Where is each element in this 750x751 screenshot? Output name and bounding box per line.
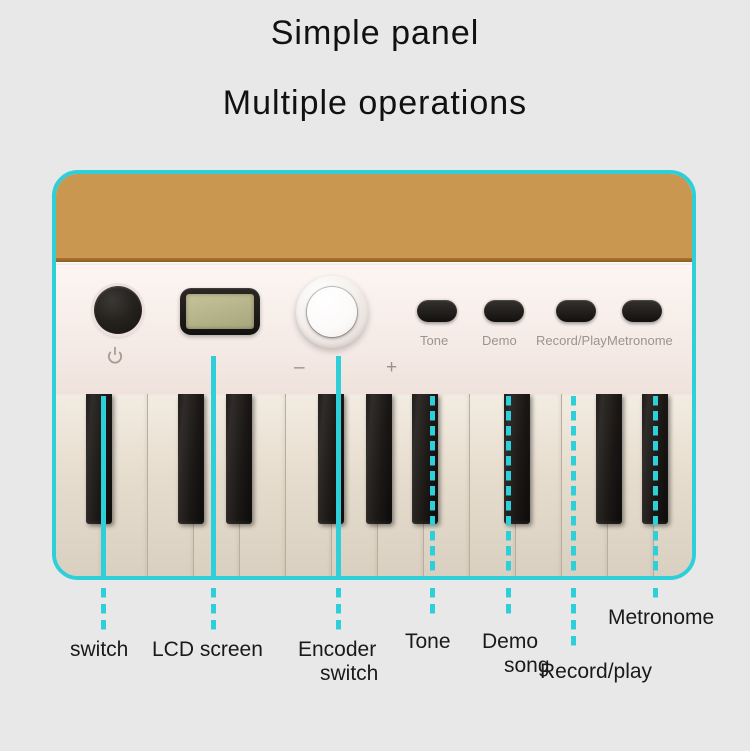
minus-label: – bbox=[294, 358, 305, 377]
caption-encoder-switch: Encoderswitch bbox=[298, 638, 378, 685]
leader-line-out-switch bbox=[101, 588, 106, 630]
button-label-tone: Tone bbox=[420, 334, 448, 347]
leader-line-out-metronome bbox=[653, 588, 658, 602]
caption-line: switch bbox=[298, 662, 378, 686]
caption-line: Record/play bbox=[540, 660, 652, 684]
button-label-demo: Demo bbox=[482, 334, 517, 347]
power-icon bbox=[105, 346, 125, 366]
button-record-play[interactable] bbox=[556, 300, 596, 322]
button-demo[interactable] bbox=[484, 300, 524, 322]
button-label-metronome: Metronome bbox=[607, 334, 673, 347]
headings-block: Simple panel Multiple operations bbox=[0, 0, 750, 120]
caption-line: Encoder bbox=[298, 638, 378, 662]
lcd-screen bbox=[180, 288, 260, 335]
black-key[interactable] bbox=[596, 394, 622, 524]
leader-line-out-encoder-switch bbox=[336, 588, 341, 630]
caption-tone: Tone bbox=[405, 630, 451, 654]
caption-line: LCD screen bbox=[152, 638, 263, 662]
wood-lid bbox=[56, 174, 692, 262]
power-button[interactable] bbox=[94, 286, 142, 334]
leader-line-out-demo-song bbox=[506, 588, 511, 620]
leader-line-metronome bbox=[653, 396, 658, 578]
caption-lcd-screen: LCD screen bbox=[152, 638, 263, 662]
button-metronome[interactable] bbox=[622, 300, 662, 322]
leader-line-lcd-screen bbox=[211, 356, 216, 578]
keybed[interactable] bbox=[56, 394, 692, 580]
black-key[interactable] bbox=[178, 394, 204, 524]
leader-line-switch bbox=[101, 396, 106, 578]
button-label-record-play: Record/Play bbox=[536, 334, 607, 347]
caption-metronome: Metronome bbox=[608, 606, 714, 630]
black-key[interactable] bbox=[366, 394, 392, 524]
caption-line: Metronome bbox=[608, 606, 714, 630]
leader-line-demo-song bbox=[506, 396, 511, 578]
leader-line-out-lcd-screen bbox=[211, 588, 216, 630]
caption-line: Tone bbox=[405, 630, 451, 654]
page-subtitle: Multiple operations bbox=[0, 86, 750, 120]
leader-line-encoder-switch bbox=[336, 356, 341, 578]
caption-switch: switch bbox=[70, 638, 128, 662]
leader-line-record-play bbox=[571, 396, 576, 578]
leader-line-out-tone bbox=[430, 588, 435, 620]
encoder-knob-face bbox=[307, 287, 357, 337]
lcd-glass bbox=[186, 294, 254, 329]
caption-record-play: Record/play bbox=[540, 660, 652, 684]
device-frame: – + ToneDemoRecord/PlayMetronome bbox=[52, 170, 696, 580]
control-panel: – + ToneDemoRecord/PlayMetronome bbox=[56, 262, 692, 394]
black-key[interactable] bbox=[86, 394, 112, 524]
leader-line-tone bbox=[430, 396, 435, 578]
encoder-knob[interactable] bbox=[296, 276, 368, 348]
plus-label: + bbox=[386, 358, 397, 377]
caption-line: Demo bbox=[482, 630, 550, 654]
button-tone[interactable] bbox=[417, 300, 457, 322]
black-key[interactable] bbox=[226, 394, 252, 524]
leader-line-out-record-play bbox=[571, 588, 576, 650]
caption-line: switch bbox=[70, 638, 128, 662]
page-title: Simple panel bbox=[0, 16, 750, 50]
